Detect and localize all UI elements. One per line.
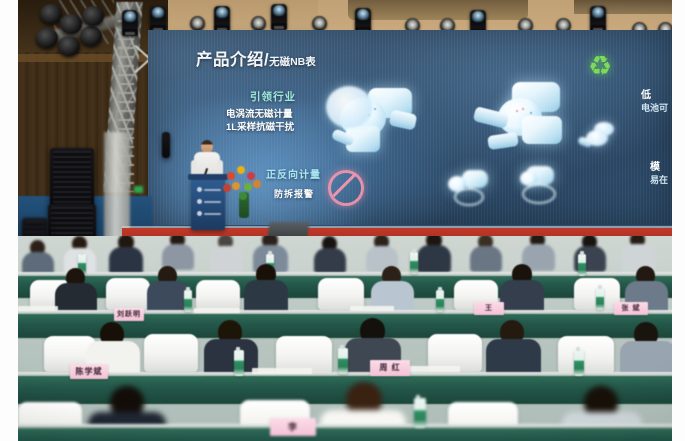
product-render-icon-right — [582, 122, 616, 150]
flower-arrangement — [223, 166, 265, 218]
slide-feature-line1: 电涡流无磁计量 — [226, 108, 294, 121]
podium-sign-line — [204, 189, 221, 191]
slide-title-sub: 无磁NB表 — [269, 56, 316, 68]
chair — [144, 334, 198, 372]
slide-right-item2-title: 模 — [650, 158, 668, 173]
moving-head-light — [271, 4, 287, 30]
document-paper — [404, 366, 460, 372]
water-bottle — [574, 350, 584, 376]
product-render-meter-b — [478, 82, 574, 156]
light-cluster — [82, 6, 104, 26]
slide-feature-note: 防拆报警 — [274, 187, 314, 200]
par-light — [312, 16, 327, 31]
water-bottle — [338, 348, 348, 374]
moving-head-light — [590, 6, 606, 32]
ceiling-beam — [348, 0, 528, 20]
water-bottle — [578, 254, 586, 276]
name-placard: 李 — [270, 418, 316, 436]
chair — [196, 280, 240, 310]
document-paper — [18, 306, 58, 311]
ceiling-beam-secondary — [574, 0, 672, 14]
chair — [106, 278, 150, 310]
document-paper — [350, 306, 394, 311]
prohibition-icon — [328, 170, 364, 206]
water-bottle — [184, 290, 192, 312]
slide-lead-heading: 引领行业 — [250, 89, 296, 104]
chair — [558, 336, 614, 374]
name-placard: 周 红 — [370, 360, 410, 376]
slide-feature-line2: 1L采样抗磁干扰 — [226, 121, 294, 134]
slide-title-main: 产品介绍 — [196, 51, 264, 69]
moving-head-light — [150, 6, 166, 32]
slide-right-item1-desc: 电池可 — [641, 103, 668, 113]
line-array-speaker-top — [50, 148, 94, 208]
water-bottle — [234, 350, 244, 376]
water-bottle — [410, 252, 418, 274]
water-bottle — [414, 398, 426, 428]
light-cluster — [40, 4, 62, 24]
light-cluster — [80, 26, 102, 46]
screenshot-frame: 产品介绍/无磁NB表 引领行业 电涡流无磁计量 1L采样抗磁干扰 正反向计量 防… — [0, 0, 685, 441]
product-render-small-b — [518, 166, 564, 202]
conference-photo: 产品介绍/无磁NB表 引领行业 电涡流无磁计量 1L采样抗磁干扰 正反向计量 防… — [18, 0, 672, 441]
audience-area: 刘跃明 王 张 斌 — [18, 236, 672, 441]
slide-right-item1: 低 电池可 — [641, 86, 668, 114]
decorative-blob — [326, 86, 372, 128]
podium-sign-line — [204, 201, 221, 203]
flower — [223, 184, 231, 192]
light-cluster — [60, 14, 82, 34]
water-bottle — [596, 288, 604, 310]
flower — [239, 192, 247, 200]
slide-right-item1-title: 低 — [641, 86, 668, 101]
recycle-icon: ♻ — [588, 52, 616, 80]
name-placard: 陈学斌 — [70, 364, 108, 379]
slide-right-item2-desc: 易在 — [650, 175, 668, 185]
light-cluster — [36, 28, 58, 48]
flower — [253, 180, 261, 188]
product-render-small-a — [448, 170, 492, 204]
name-placard: 刘跃明 — [114, 308, 144, 321]
podium-logo — [197, 187, 202, 192]
name-placard: 张 斌 — [614, 302, 648, 315]
slide-feature-lines: 电涡流无磁计量 1L采样抗磁干扰 — [226, 108, 294, 134]
par-light — [190, 16, 205, 31]
moving-head-light — [122, 10, 138, 36]
light-cluster — [58, 36, 80, 56]
flower — [247, 172, 255, 180]
podium-top — [188, 174, 228, 180]
flower — [232, 182, 240, 190]
document-paper — [252, 368, 312, 374]
podium-logo — [197, 199, 202, 204]
moving-head-light — [214, 6, 230, 32]
slide-feature-highlight: 正反向计量 — [266, 166, 321, 181]
water-bottle — [436, 290, 444, 312]
flower — [244, 183, 252, 191]
slide-title: 产品介绍/无磁NB表 — [196, 46, 316, 70]
podium — [191, 178, 225, 230]
document-paper — [194, 308, 240, 313]
conference-table — [18, 428, 672, 441]
podium-logo — [197, 211, 202, 216]
name-placard: 王 — [474, 302, 504, 315]
surround-speaker — [162, 132, 170, 158]
podium-sign-line — [204, 213, 221, 215]
flower — [227, 172, 235, 180]
par-light — [251, 16, 266, 31]
slide-right-item2: 模 易在 — [650, 158, 668, 186]
exit-sign — [134, 186, 143, 193]
flower — [237, 166, 245, 174]
